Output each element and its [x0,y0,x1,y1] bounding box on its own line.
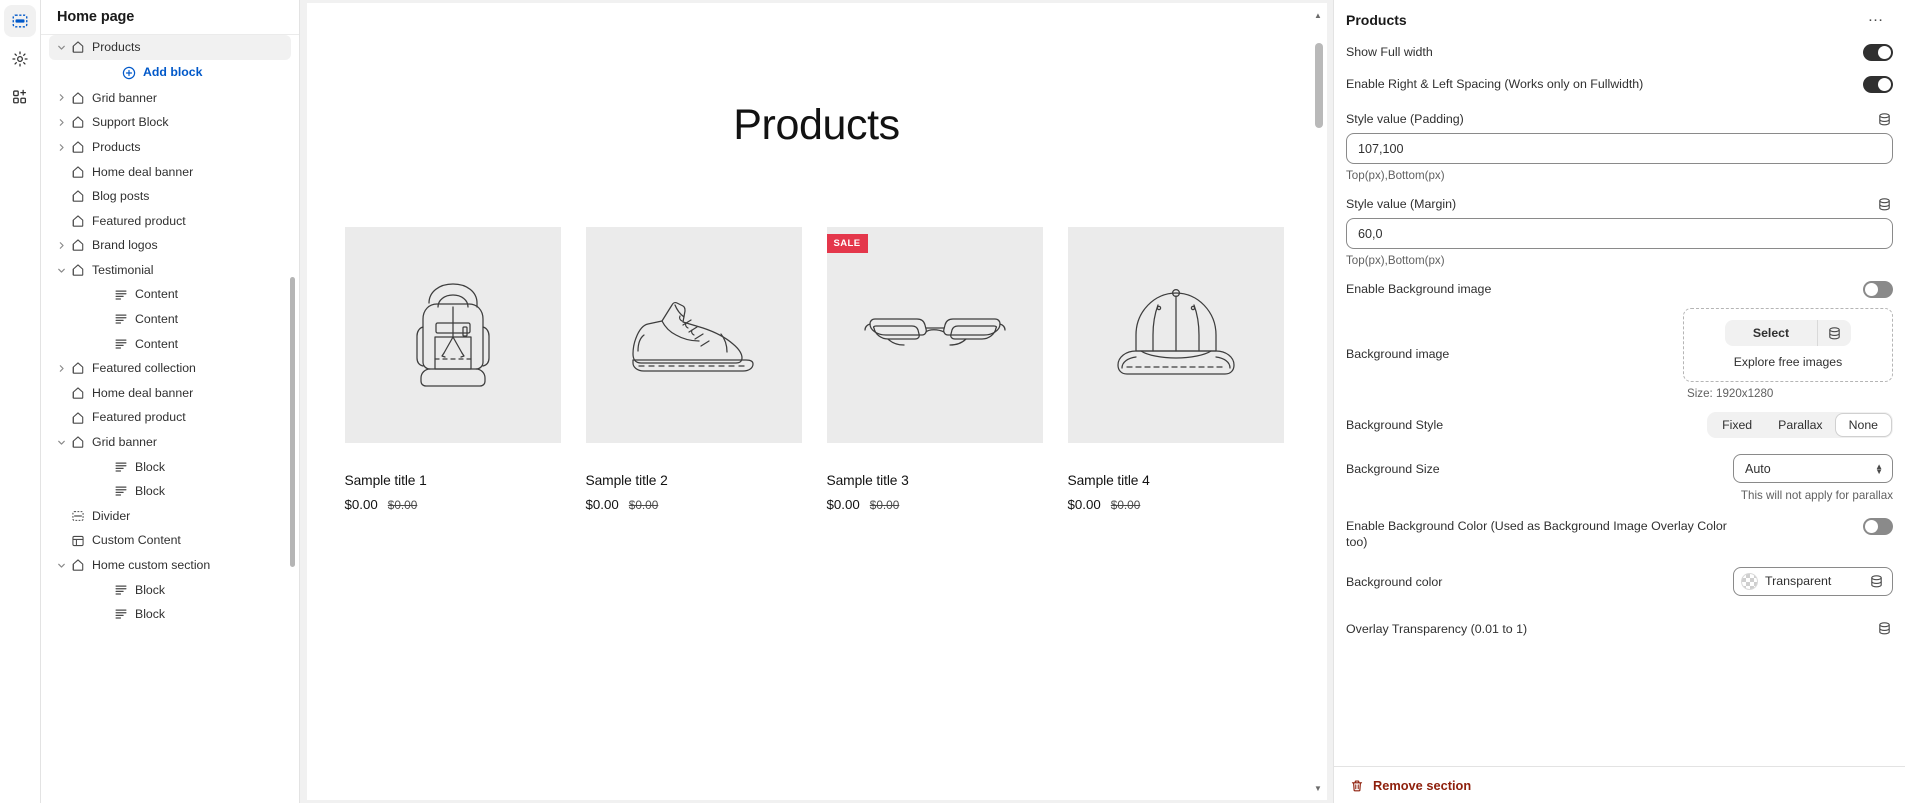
background-style-option-parallax[interactable]: Parallax [1765,414,1835,436]
toggle-knob [1878,78,1891,91]
padding-helper-text: Top(px),Bottom(px) [1346,169,1893,182]
add-block-button[interactable]: Add block [49,60,291,86]
home-icon [71,214,85,228]
sidebar-item-home-deal-banner[interactable]: Home deal banner [49,381,291,406]
sidebar-item-block[interactable]: Block [49,602,291,627]
setting-show-full-width: Show Full width [1346,43,1893,61]
home-icon [71,411,85,425]
text-lines-icon [112,311,130,327]
sidebar-item-label: Grid banner [92,92,157,104]
product-image[interactable] [586,227,802,443]
toggle-knob [1865,283,1878,296]
chevron-right-icon [56,363,67,374]
setting-background-style: Background Style FixedParallaxNone [1346,412,1893,438]
trash-icon [1350,779,1364,793]
chevron-down-icon[interactable] [53,39,69,55]
product-title[interactable]: Sample title 3 [827,473,1043,488]
text-lines-icon [114,312,128,326]
text-lines-icon [114,607,128,621]
chevron-down-icon [56,560,67,571]
enable-right-left-spacing-label: Enable Right & Left Spacing (Works only … [1346,75,1643,92]
chevron-right-icon[interactable] [53,360,69,376]
chevron-up-down-icon: ▲▼ [1875,464,1883,474]
product-price: $0.00 [586,497,619,512]
setting-overlay-transparency: Overlay Transparency (0.01 to 1) [1346,620,1893,638]
sidebar-item-label: Block [135,485,165,497]
sidebar-item-featured-collection[interactable]: Featured collection [49,356,291,381]
transparent-swatch-icon [1741,573,1758,590]
overlay-transparency-label: Overlay Transparency (0.01 to 1) [1346,620,1527,637]
home-icon [71,40,85,54]
home-icon [71,189,85,203]
settings-header: Products … [1334,0,1905,43]
background-size-label: Background Size [1346,460,1440,477]
sidebar-item-label: Featured product [92,411,186,423]
sidebar-item-label: Content [135,288,178,300]
text-lines-icon [112,336,130,352]
home-icon [71,238,85,252]
background-image-dynamic-source-icon[interactable] [1818,320,1851,346]
background-style-option-none[interactable]: None [1836,414,1891,436]
padding-label: Style value (Padding) [1346,110,1464,127]
product-compare-price: $0.00 [629,498,659,512]
sidebar-item-home-deal-banner[interactable]: Home deal banner [49,159,291,184]
custom-content-icon [71,534,85,548]
margin-helper-text: Top(px),Bottom(px) [1346,254,1893,267]
page-title: Home page [57,9,134,25]
rail-item-theme-settings[interactable] [4,43,36,75]
show-full-width-label: Show Full width [1346,43,1433,60]
product-compare-price: $0.00 [388,498,418,512]
remove-section-label: Remove section [1373,778,1471,793]
sidebar-item-content[interactable]: Content [49,307,291,332]
product-title[interactable]: Sample title 4 [1068,473,1284,488]
product-compare-price: $0.00 [1111,498,1141,512]
setting-background-size: Background Size Auto ▲▼ [1346,454,1893,483]
rail-item-apps[interactable] [4,81,36,113]
background-style-segmented-control: FixedParallaxNone [1707,412,1893,438]
home-icon [69,385,87,401]
sections-sidebar: Home page ProductsAdd blockGrid bannerSu… [41,0,300,803]
chevron-right-icon[interactable] [53,90,69,106]
plus-circle-icon [121,65,136,80]
settings-footer: Remove section [1334,766,1905,803]
chevron-right-icon[interactable] [53,114,69,130]
home-icon [69,39,87,55]
product-price: $0.00 [827,497,860,512]
setting-style-value-margin: Style value (Margin) 60,0 Top(px),Bottom… [1346,195,1893,267]
home-icon [69,213,87,229]
text-lines-icon [114,460,128,474]
sidebar-item-label: Block [135,584,165,596]
preview-scrollbar-track[interactable]: ▲ ▼ [1313,3,1326,800]
setting-background-color: Background color Transparent [1346,567,1893,596]
preview-section-heading: Products [307,101,1327,150]
background-image-size-note: Size: 1920x1280 [1687,387,1773,400]
product-compare-price: $0.00 [870,498,900,512]
section-settings-panel: Products … Show Full width Enable Right … [1333,0,1905,803]
home-icon [69,139,87,155]
enable-background-color-toggle[interactable] [1863,518,1893,535]
product-title[interactable]: Sample title 2 [586,473,802,488]
sidebar-item-label: Products [92,141,141,153]
sidebar-item-support-block[interactable]: Support Block [49,110,291,135]
divider-icon [69,508,87,524]
apps-add-icon [11,88,29,106]
settings-body: Show Full width Enable Right & Left Spac… [1334,43,1905,766]
background-style-label: Background Style [1346,416,1443,433]
enable-background-image-toggle[interactable] [1863,281,1893,298]
cap-illustration [1111,281,1241,389]
text-lines-icon [114,288,128,302]
text-lines-icon [112,606,130,622]
setting-enable-background-color: Enable Background Color (Used as Backgro… [1346,517,1893,551]
product-card[interactable]: Sample title 2$0.00$0.00 [586,227,802,512]
background-image-select-button[interactable]: Select [1725,320,1817,346]
sidebar-item-label: Grid banner [92,436,157,448]
enable-background-image-label: Enable Background image [1346,280,1491,297]
sidebar-item-label: Block [135,608,165,620]
chevron-right-icon [56,142,67,153]
sidebar-item-products[interactable]: Products [49,35,291,60]
settings-gear-icon [11,50,29,68]
padding-dynamic-source-icon[interactable] [1875,110,1893,128]
sidebar-item-label: Products [92,41,141,53]
background-color-label: Background color [1346,573,1442,590]
home-icon [69,434,87,450]
sidebar-item-block[interactable]: Block [49,577,291,602]
preview-scrollbar-thumb[interactable] [1315,43,1323,128]
product-price-row: $0.00$0.00 [1068,497,1284,512]
chevron-right-icon[interactable] [53,139,69,155]
sidebar-item-label: Featured collection [92,362,196,374]
home-icon [71,115,85,129]
sidebar-item-blog-posts[interactable]: Blog posts [49,184,291,209]
preview-canvas: Products Sample title 1$0.00$0.00Sample … [300,0,1333,803]
background-color-picker[interactable]: Transparent [1733,567,1893,596]
chevron-right-icon [56,92,67,103]
sidebar-item-featured-product[interactable]: Featured product [49,209,291,234]
show-full-width-toggle[interactable] [1863,44,1893,61]
product-card[interactable]: SALESample title 3$0.00$0.00 [827,227,1043,512]
sneaker-illustration [619,280,769,390]
setting-background-image: Background image Select [1346,308,1893,400]
product-card[interactable]: Sample title 4$0.00$0.00 [1068,227,1284,512]
sidebar-item-products[interactable]: Products [49,135,291,160]
margin-label-row: Style value (Margin) [1346,195,1893,213]
remove-section-button[interactable]: Remove section [1346,778,1893,793]
product-image[interactable] [345,227,561,443]
sidebar-scrollbar-thumb[interactable] [290,277,296,567]
glasses-illustration [860,300,1010,370]
text-lines-icon [114,337,128,351]
sidebar-item-label: Content [135,338,178,350]
background-image-dropzone[interactable]: Select Explore free images [1683,308,1893,382]
text-lines-icon [112,483,130,499]
chevron-right-icon [56,240,67,251]
toggle-knob [1865,520,1878,533]
home-icon [71,435,85,449]
sidebar-item-label: Content [135,313,178,325]
product-image[interactable] [1068,227,1284,443]
sections-tree: ProductsAdd blockGrid bannerSupport Bloc… [41,35,299,803]
sidebar-item-label: Home custom section [92,559,210,571]
text-lines-icon [112,287,130,303]
storefront-preview[interactable]: Products Sample title 1$0.00$0.00Sample … [307,3,1327,800]
sale-badge: SALE [827,234,869,253]
setting-style-value-padding: Style value (Padding) 107,100 Top(px),Bo… [1346,110,1893,182]
enable-right-left-spacing-toggle[interactable] [1863,76,1893,93]
sidebar-item-content[interactable]: Content [49,332,291,357]
background-style-option-fixed[interactable]: Fixed [1709,414,1765,436]
chevron-down-icon [56,437,67,448]
home-icon [69,410,87,426]
sidebar-item-label: Blog posts [92,190,149,202]
more-options-kebab-icon[interactable]: … [1863,7,1889,33]
sidebar-item-label: Custom Content [92,534,181,546]
sidebar-item-divider[interactable]: Divider [49,504,291,529]
margin-input[interactable]: 60,0 [1346,218,1893,249]
sidebar-item-grid-banner[interactable]: Grid banner [49,86,291,111]
sidebar-item-label: Featured product [92,215,186,227]
padding-input[interactable]: 107,100 [1346,133,1893,164]
divider-icon [71,509,85,523]
rail-item-sections[interactable] [4,5,36,37]
product-title[interactable]: Sample title 1 [345,473,561,488]
text-lines-icon [112,459,130,475]
text-lines-icon [114,583,128,597]
background-size-select[interactable]: Auto ▲▼ [1733,454,1893,483]
chevron-down-icon[interactable] [53,434,69,450]
chevron-right-icon[interactable] [53,237,69,253]
sidebar-item-block[interactable]: Block [49,479,291,504]
background-image-label: Background image [1346,345,1449,362]
home-icon [71,91,85,105]
sidebar-scrollbar-track[interactable] [291,40,297,660]
add-block-label: Add block [143,66,202,78]
product-price: $0.00 [345,497,378,512]
chevron-down-icon[interactable] [53,262,69,278]
sidebar-item-featured-product[interactable]: Featured product [49,405,291,430]
enable-background-color-label: Enable Background Color (Used as Backgro… [1346,517,1736,551]
home-icon [71,263,85,277]
background-image-select-group: Select [1725,320,1851,346]
home-icon [69,360,87,376]
sidebar-item-content[interactable]: Content [49,282,291,307]
overlay-transparency-dynamic-source-icon[interactable] [1875,620,1893,638]
sidebar-item-label: Divider [92,510,130,522]
background-size-helper-text: This will not apply for parallax [1346,489,1893,502]
text-lines-icon [112,582,130,598]
product-price-row: $0.00$0.00 [345,497,561,512]
chevron-down-icon [56,42,67,53]
sidebar-item-label: Home deal banner [92,387,193,399]
left-icon-rail [0,0,41,803]
scroll-down-arrow[interactable]: ▼ [1313,782,1324,794]
background-color-value: Transparent [1765,574,1860,588]
sidebar-item-home-custom-section[interactable]: Home custom section [49,553,291,578]
sidebar-item-label: Testimonial [92,264,154,276]
sections-icon [11,12,29,30]
product-card[interactable]: Sample title 1$0.00$0.00 [345,227,561,512]
product-price: $0.00 [1068,497,1101,512]
product-grid: Sample title 1$0.00$0.00Sample title 2$0… [307,227,1327,512]
home-icon [69,114,87,130]
product-price-row: $0.00$0.00 [827,497,1043,512]
custom-content-icon [69,533,87,549]
chevron-down-icon [56,265,67,276]
sidebar-item-label: Block [135,461,165,473]
home-icon [69,262,87,278]
sidebar-item-label: Home deal banner [92,166,193,178]
sidebar-item-testimonial[interactable]: Testimonial [49,258,291,283]
settings-title: Products [1346,12,1407,28]
home-icon [71,140,85,154]
setting-enable-background-image: Enable Background image [1346,280,1893,298]
sidebar-header: Home page [41,0,299,35]
background-size-value: Auto [1745,462,1771,476]
home-icon [71,386,85,400]
theme-editor-app: Home page ProductsAdd blockGrid bannerSu… [0,0,1905,803]
sections-tree-list: ProductsAdd blockGrid bannerSupport Bloc… [41,35,299,627]
background-color-dynamic-source-icon[interactable] [1867,572,1885,590]
home-icon [71,165,85,179]
home-icon [69,188,87,204]
home-icon [71,361,85,375]
margin-dynamic-source-icon[interactable] [1875,195,1893,213]
padding-label-row: Style value (Padding) [1346,110,1893,128]
home-icon [71,558,85,572]
sidebar-item-label: Support Block [92,116,169,128]
explore-free-images-link[interactable]: Explore free images [1734,355,1842,369]
scroll-up-arrow[interactable]: ▲ [1313,9,1324,21]
product-image[interactable]: SALE [827,227,1043,443]
sidebar-item-block[interactable]: Block [49,455,291,480]
sidebar-item-grid-banner[interactable]: Grid banner [49,430,291,455]
home-icon [69,557,87,573]
product-price-row: $0.00$0.00 [586,497,802,512]
sidebar-item-brand-logos[interactable]: Brand logos [49,233,291,258]
chevron-down-icon[interactable] [53,557,69,573]
home-icon [69,237,87,253]
text-lines-icon [114,484,128,498]
sidebar-item-custom-content[interactable]: Custom Content [49,528,291,553]
margin-label: Style value (Margin) [1346,195,1456,212]
home-icon [69,164,87,180]
home-icon [69,90,87,106]
chevron-right-icon [56,117,67,128]
toggle-knob [1878,46,1891,59]
setting-enable-right-left-spacing: Enable Right & Left Spacing (Works only … [1346,75,1893,93]
sidebar-item-label: Brand logos [92,239,158,251]
backpack-illustration [389,271,517,399]
